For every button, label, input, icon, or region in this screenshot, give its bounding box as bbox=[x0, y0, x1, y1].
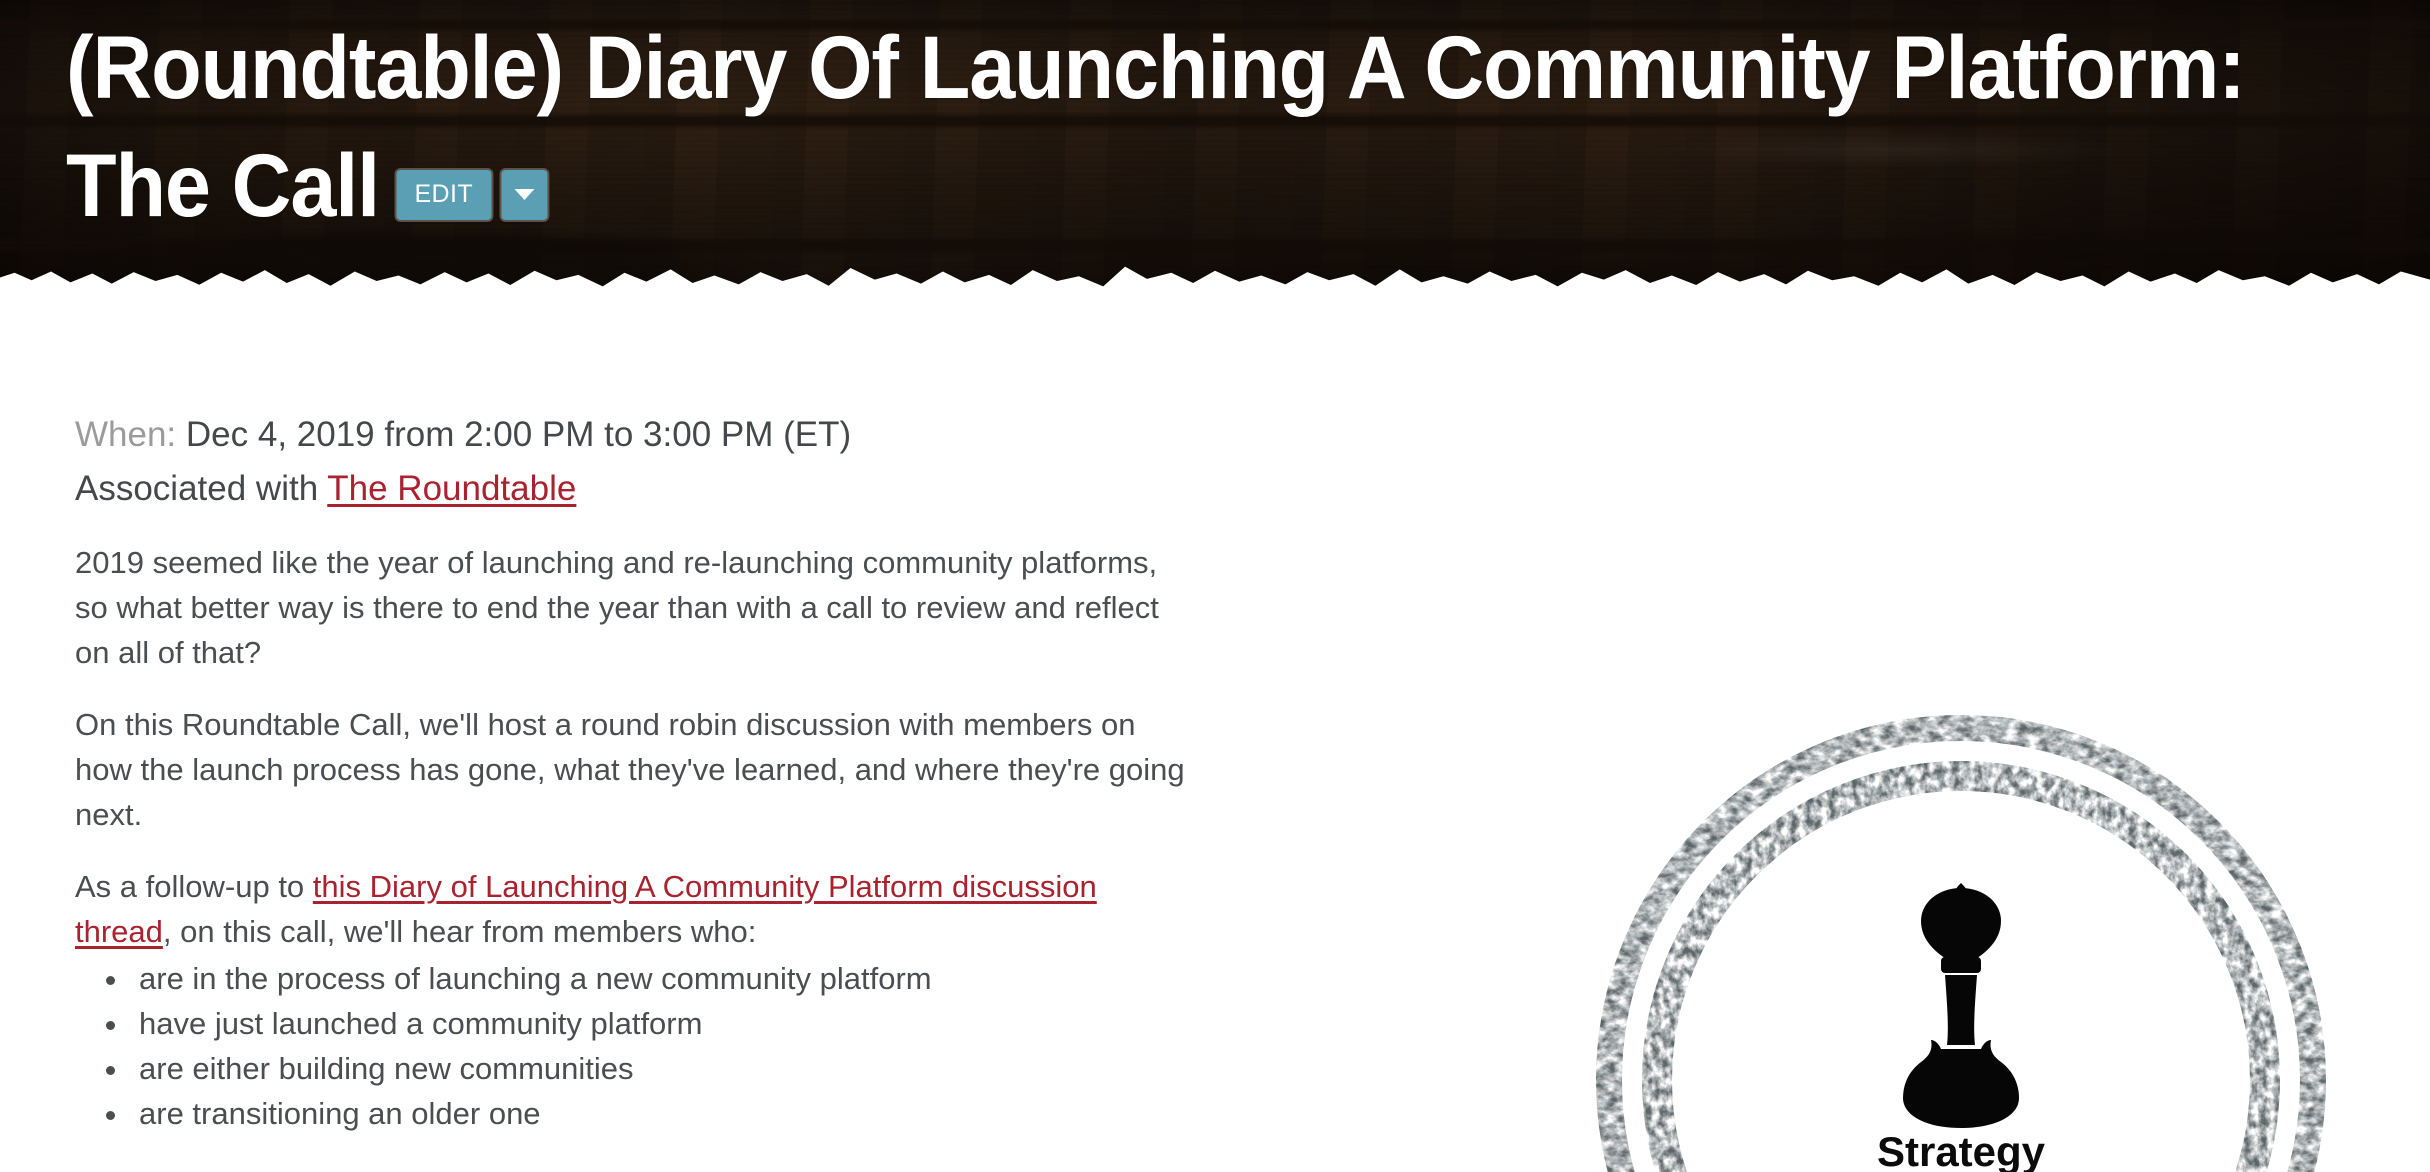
edit-dropdown-button[interactable] bbox=[499, 168, 549, 222]
when-label: When: bbox=[75, 415, 176, 454]
associated-label: Associated with bbox=[75, 469, 318, 508]
when-value: Dec 4, 2019 from 2:00 PM to 3:00 PM (ET) bbox=[186, 415, 851, 454]
page-content: When: Dec 4, 2019 from 2:00 PM to 3:00 P… bbox=[0, 300, 2430, 1172]
page-title-text: (Roundtable) Diary Of Launching A Commun… bbox=[66, 17, 2245, 235]
badge-svg: Strategy Diary of Launching a Community … bbox=[1506, 688, 2416, 1172]
list-item: have just launched a community platform bbox=[131, 1001, 1195, 1046]
event-when-line: When: Dec 4, 2019 from 2:00 PM to 3:00 P… bbox=[75, 408, 1195, 462]
chess-queen-icon bbox=[1903, 883, 2019, 1128]
list-item: are in the process of launching a new co… bbox=[131, 956, 1195, 1001]
badge-category-label: Strategy bbox=[1877, 1128, 2046, 1172]
associated-group-link[interactable]: The Roundtable bbox=[327, 469, 576, 508]
page-title: (Roundtable) Diary Of Launching A Commun… bbox=[66, 8, 2265, 244]
member-types-list: are in the process of launching a new co… bbox=[75, 956, 1195, 1136]
edit-button[interactable]: EDIT bbox=[394, 168, 493, 222]
event-paragraph-3: As a follow-up to this Diary of Launchin… bbox=[75, 864, 1195, 954]
page-header-banner: (Roundtable) Diary Of Launching A Commun… bbox=[0, 0, 2430, 300]
event-paragraph-1: 2019 seemed like the year of launching a… bbox=[75, 540, 1195, 675]
event-paragraph-2: On this Roundtable Call, we'll host a ro… bbox=[75, 702, 1195, 837]
event-associated-line: Associated with The Roundtable bbox=[75, 462, 1195, 516]
event-text-column: When: Dec 4, 2019 from 2:00 PM to 3:00 P… bbox=[75, 408, 1195, 1136]
list-item: are transitioning an older one bbox=[131, 1091, 1195, 1136]
header-content: (Roundtable) Diary Of Launching A Commun… bbox=[0, 0, 2430, 300]
edit-button-group[interactable]: EDIT bbox=[394, 168, 549, 222]
chevron-down-icon bbox=[514, 189, 534, 200]
paragraph-3-suffix: , on this call, we'll hear from members … bbox=[163, 914, 756, 949]
list-item: are either building new communities bbox=[131, 1046, 1195, 1091]
event-badge-seal: Strategy Diary of Launching a Community … bbox=[1506, 688, 2416, 1172]
paragraph-3-prefix: As a follow-up to bbox=[75, 869, 313, 904]
